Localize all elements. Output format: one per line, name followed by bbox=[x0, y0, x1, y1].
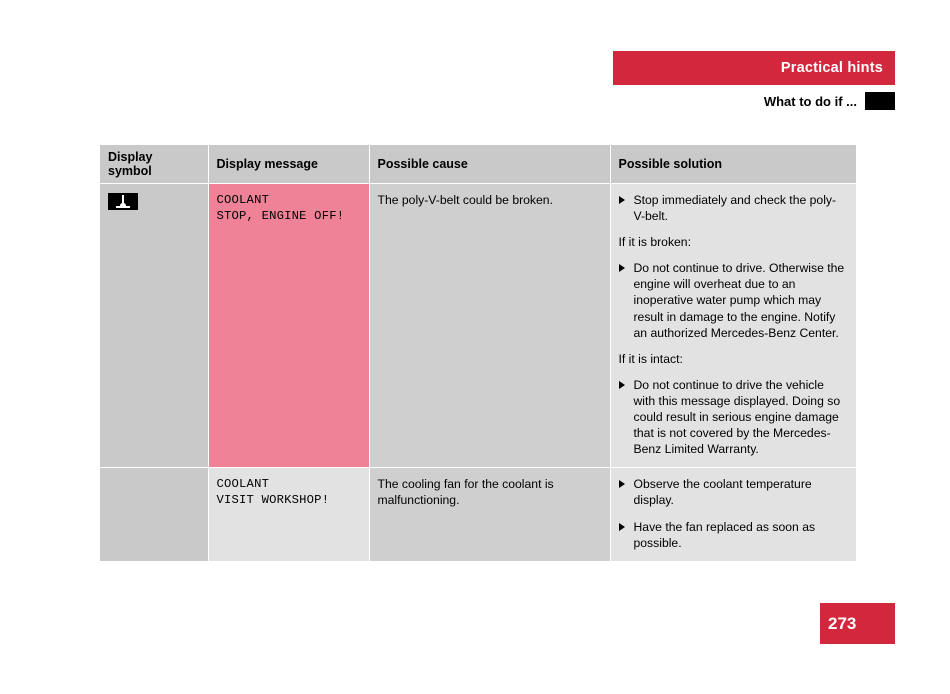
solution-bullet: Observe the coolant temperature display. bbox=[619, 476, 847, 508]
triangle-bullet-icon bbox=[619, 381, 625, 389]
cell-possible-cause: The cooling fan for the coolant is malfu… bbox=[369, 468, 610, 561]
solution-bullet: Have the fan replaced as soon as possibl… bbox=[619, 519, 847, 551]
cell-display-symbol bbox=[100, 184, 208, 468]
solution-bullet: Do not continue to drive the vehicle wit… bbox=[619, 377, 847, 457]
header-subtitle: What to do if ... bbox=[764, 94, 857, 109]
solution-text: Have the fan replaced as soon as possibl… bbox=[634, 519, 847, 551]
solution-text: Observe the coolant temperature display. bbox=[634, 476, 847, 508]
solution-text: Do not continue to drive the vehicle wit… bbox=[634, 377, 847, 457]
triangle-bullet-icon bbox=[619, 480, 625, 488]
column-header-display-message: Display message bbox=[208, 145, 369, 184]
cell-display-message: COOLANT VISIT WORKSHOP! bbox=[208, 468, 369, 561]
solution-note: If it is broken: bbox=[619, 234, 847, 250]
triangle-bullet-icon bbox=[619, 196, 625, 204]
triangle-bullet-icon bbox=[619, 264, 625, 272]
triangle-bullet-icon bbox=[619, 523, 625, 531]
header-subtitle-row: What to do if ... bbox=[613, 90, 895, 112]
solution-text: Do not continue to drive. Otherwise the … bbox=[634, 260, 847, 340]
cell-display-symbol bbox=[100, 468, 208, 561]
solution-note: If it is intact: bbox=[619, 351, 847, 367]
header-black-marker bbox=[865, 92, 895, 110]
header-title: Practical hints bbox=[781, 60, 883, 76]
table-row: COOLANT STOP, ENGINE OFF! The poly-V-bel… bbox=[100, 184, 856, 468]
cell-display-message: COOLANT STOP, ENGINE OFF! bbox=[208, 184, 369, 468]
cell-possible-cause: The poly-V-belt could be broken. bbox=[369, 184, 610, 468]
solution-bullet: Stop immediately and check the poly-V-be… bbox=[619, 192, 847, 224]
cell-possible-solution: Observe the coolant temperature display.… bbox=[610, 468, 856, 561]
header-title-bar: Practical hints bbox=[613, 51, 895, 85]
cell-possible-solution: Stop immediately and check the poly-V-be… bbox=[610, 184, 856, 468]
solution-bullet: Do not continue to drive. Otherwise the … bbox=[619, 260, 847, 340]
column-header-possible-cause: Possible cause bbox=[369, 145, 610, 184]
column-header-display-symbol: Display symbol bbox=[100, 145, 208, 184]
display-messages-table: Display symbol Display message Possible … bbox=[100, 145, 856, 561]
solution-text: Stop immediately and check the poly-V-be… bbox=[634, 192, 847, 224]
page-number-badge: 273 bbox=[820, 603, 895, 644]
coolant-temperature-icon bbox=[108, 193, 138, 210]
column-header-possible-solution: Possible solution bbox=[610, 145, 856, 184]
page-header: Practical hints What to do if ... bbox=[613, 51, 895, 112]
table-header-row: Display symbol Display message Possible … bbox=[100, 145, 856, 184]
table-row: COOLANT VISIT WORKSHOP! The cooling fan … bbox=[100, 468, 856, 561]
